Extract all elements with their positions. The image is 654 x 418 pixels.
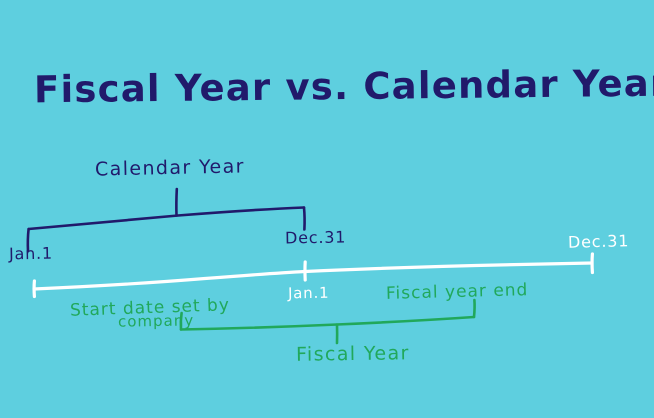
calendar-year-start-label: Jan.1 bbox=[9, 246, 53, 263]
infographic-canvas: Fiscal Year vs. Calendar Year Calendar Y… bbox=[0, 0, 654, 418]
fiscal-timeline-end-label: Dec.31 bbox=[568, 233, 630, 251]
fiscal-end-note: Fiscal year end bbox=[386, 282, 529, 303]
calendar-year-group-label: Calendar Year bbox=[95, 157, 245, 179]
fiscal-year-group-label: Fiscal Year bbox=[296, 344, 410, 365]
page-title: Fiscal Year vs. Calendar Year bbox=[34, 65, 654, 109]
fiscal-start-note-line2: company bbox=[118, 313, 194, 329]
calendar-year-bracket bbox=[28, 189, 305, 251]
fiscal-timeline-mid-tick-label: Jan.1 bbox=[288, 286, 330, 302]
calendar-year-end-label: Dec.31 bbox=[285, 229, 346, 246]
